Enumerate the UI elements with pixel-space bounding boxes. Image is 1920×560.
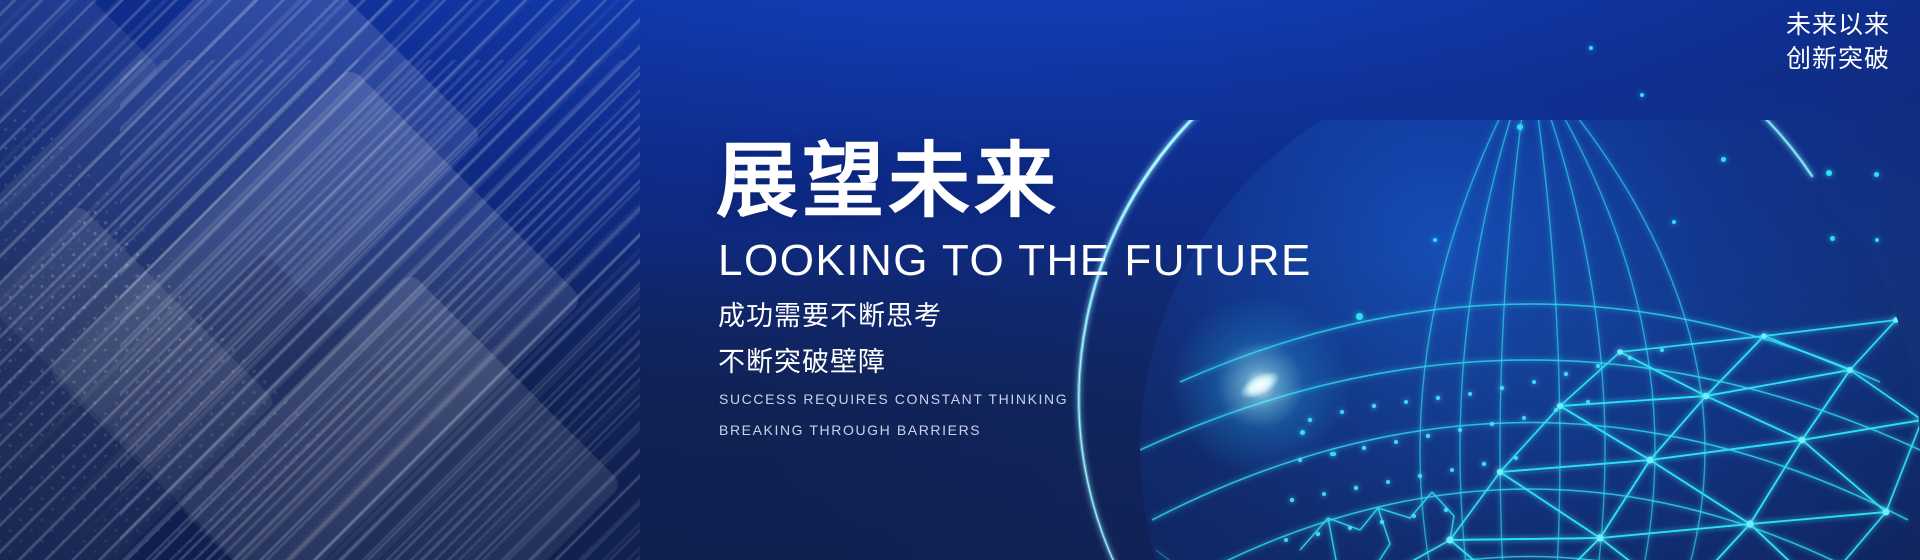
- particle-dot: [1433, 238, 1437, 242]
- tagline-english-line-1: SUCCESS REQUIRES CONSTANT THINKING: [719, 388, 1312, 411]
- particle-dot: [1875, 238, 1879, 242]
- particle-dot: [1830, 236, 1835, 241]
- diagonal-stripes: [120, 60, 640, 560]
- particle-dot: [1589, 46, 1593, 50]
- particle-dot: [1721, 157, 1726, 162]
- banner-root: 未来以来 创新突破 展望未来 LOOKING TO THE FUTURE 成功需…: [0, 0, 1920, 560]
- headline-block: 展望未来 LOOKING TO THE FUTURE 成功需要不断思考 不断突破…: [716, 136, 1312, 442]
- particle-dot: [1332, 452, 1336, 456]
- corner-slogan: 未来以来 创新突破: [1786, 8, 1890, 76]
- particle-dot: [1640, 93, 1644, 97]
- tagline-chinese-line-2: 不断突破壁障: [718, 344, 1312, 380]
- left-geometric-artwork: [0, 0, 640, 560]
- particle-dot: [1356, 313, 1363, 320]
- particle-dot: [1874, 172, 1879, 177]
- tagline-english-line-2: BREAKING THROUGH BARRIERS: [719, 419, 1312, 442]
- slogan-line-2: 创新突破: [1786, 42, 1890, 76]
- page-title: 展望未来: [716, 136, 1312, 228]
- particle-dot: [1517, 124, 1523, 130]
- particle-dot: [1826, 170, 1832, 176]
- particle-dot: [1672, 220, 1676, 224]
- slogan-line-1: 未来以来: [1786, 8, 1890, 42]
- page-subtitle-english: LOOKING TO THE FUTURE: [718, 234, 1312, 288]
- tagline-chinese-line-1: 成功需要不断思考: [718, 298, 1312, 334]
